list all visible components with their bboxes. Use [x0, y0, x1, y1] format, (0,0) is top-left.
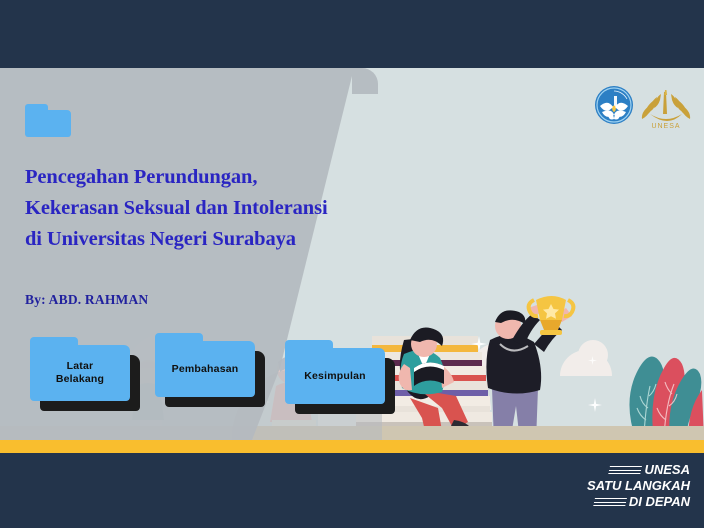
button-face: Latar Belakang [30, 345, 130, 401]
top-navy-bar [0, 0, 704, 68]
svg-text:UNESA: UNESA [651, 123, 680, 130]
button-face: Kesimpulan [285, 348, 385, 404]
nav-button-kesimpulan[interactable]: Kesimpulan [285, 348, 385, 404]
tagline-line-2: SATU LANGKAH [580, 478, 690, 494]
tut-wuri-handayani-logo [595, 86, 633, 124]
folder-tab-notch [285, 340, 333, 350]
folder-tab-notch [30, 337, 78, 347]
nav-button-label: Kesimpulan [304, 370, 366, 383]
nav-button-label: Latar Belakang [56, 360, 104, 386]
presentation-slide: Pencegahan Perundungan, Kekerasan Seksua… [0, 0, 704, 528]
tagline-line-3: DI DEPAN [580, 494, 690, 510]
folder-tab-notch [155, 333, 203, 343]
button-face: Pembahasan [155, 341, 255, 397]
unesa-tagline: UNESA SATU LANGKAH DI DEPAN [580, 462, 690, 514]
nav-button-latar-belakang[interactable]: Latar Belakang [30, 345, 130, 401]
nav-button-pembahasan[interactable]: Pembahasan [155, 341, 255, 397]
unesa-logo: UNESA [642, 90, 690, 130]
speed-lines-icon [609, 466, 643, 475]
speed-lines-icon [593, 498, 627, 507]
yellow-accent-bar [0, 440, 704, 453]
tagline-line-1: UNESA [580, 462, 690, 478]
nav-button-label: Pembahasan [172, 363, 239, 376]
logo-group: UNESA [588, 84, 692, 130]
